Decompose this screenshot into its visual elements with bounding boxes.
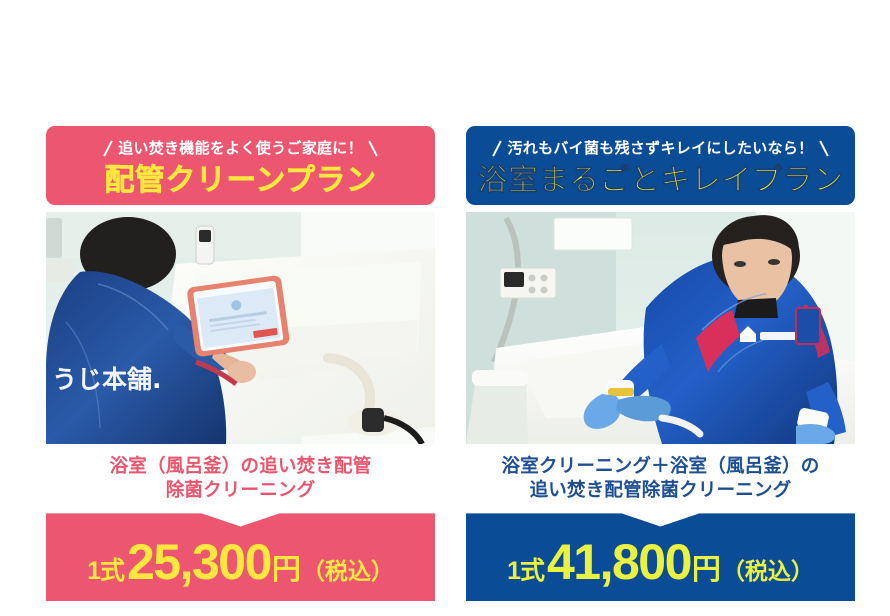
price-text: 1式 25,300 円 （税込） [87,537,394,587]
price-currency: 円 [272,556,301,585]
plan-subtitle-row: 追い焚き機能をよく使うご家庭に！ [107,138,374,160]
plan-subtitle-row: 汚れもバイ菌も残さずキレイにしたいなら！ [496,138,824,160]
svg-text:うじ本舗.: うじ本舗. [52,365,162,394]
bathtub-scrubbing-photo [466,212,855,444]
price-wrap-bathroom-full-clean: 1式 41,800 円 （税込） [466,513,855,601]
plan-header-bathroom-full-clean: 汚れもバイ菌も残さずキレイにしたいなら！ 浴室まるごとキレイプラン [466,126,855,205]
plan-photo-bathroom-full-clean [466,212,855,444]
plan-subtitle: 汚れもバイ菌も残さずキレイにしたいなら！ [507,141,813,156]
price-text: 1式 41,800 円 （税込） [507,537,814,587]
plan-card-bathroom-full-clean[interactable]: 汚れもバイ菌も残さずキレイにしたいなら！ 浴室まるごとキレイプラン [466,126,855,601]
caption-line-1: 浴室（風呂釜）の追い焚き配管 [46,454,435,478]
slash-left-icon [103,140,112,156]
plan-caption-pipe-clean: 浴室（風呂釜）の追い焚き配管 除菌クリーニング [46,454,435,501]
price-amount: 41,800 [547,537,691,587]
promo-page: 選べる2つのプラン！ 追い焚き機能をよく使うご家庭に！ 配管クリーンプラン [0,0,890,616]
caption-line-2: 追い焚き配管除菌クリーニング [466,478,855,502]
price-tax-note: （税込） [302,560,394,583]
slash-right-icon [368,140,377,156]
price-wrap-pipe-clean: 1式 25,300 円 （税込） [46,513,435,601]
plan-title: 浴室まるごとキレイプラン [478,166,844,196]
caption-line-1: 浴室クリーニング＋浴室（風呂釜）の [466,454,855,478]
plan-photo-pipe-clean: うじ本舗. [46,212,435,444]
slash-left-icon [493,140,502,156]
plan-caption-bathroom-full-clean: 浴室クリーニング＋浴室（風呂釜）の 追い焚き配管除菌クリーニング [466,454,855,501]
plan-header-pipe-clean: 追い焚き機能をよく使うご家庭に！ 配管クリーンプラン [46,126,435,205]
price-tax-note: （税込） [722,560,814,583]
page-banner: 選べる2つのプラン！ [23,24,865,104]
price-unit: 1式 [87,559,124,584]
price-amount: 25,300 [127,537,271,587]
slash-right-icon [819,140,828,156]
caption-line-2: 除菌クリーニング [46,478,435,502]
price-currency: 円 [692,556,721,585]
price-box-pipe-clean: 1式 25,300 円 （税込） [46,513,435,601]
price-box-bathroom-full-clean: 1式 41,800 円 （税込） [466,513,855,601]
plan-card-pipe-clean[interactable]: 追い焚き機能をよく使うご家庭に！ 配管クリーンプラン [46,126,435,601]
plan-subtitle: 追い焚き機能をよく使うご家庭に！ [118,141,363,156]
plan-title: 配管クリーンプラン [104,166,376,196]
page-title: 選べる2つのプラン！ [243,44,645,84]
tablet-inspection-photo: うじ本舗. [46,212,435,444]
price-unit: 1式 [507,559,544,584]
